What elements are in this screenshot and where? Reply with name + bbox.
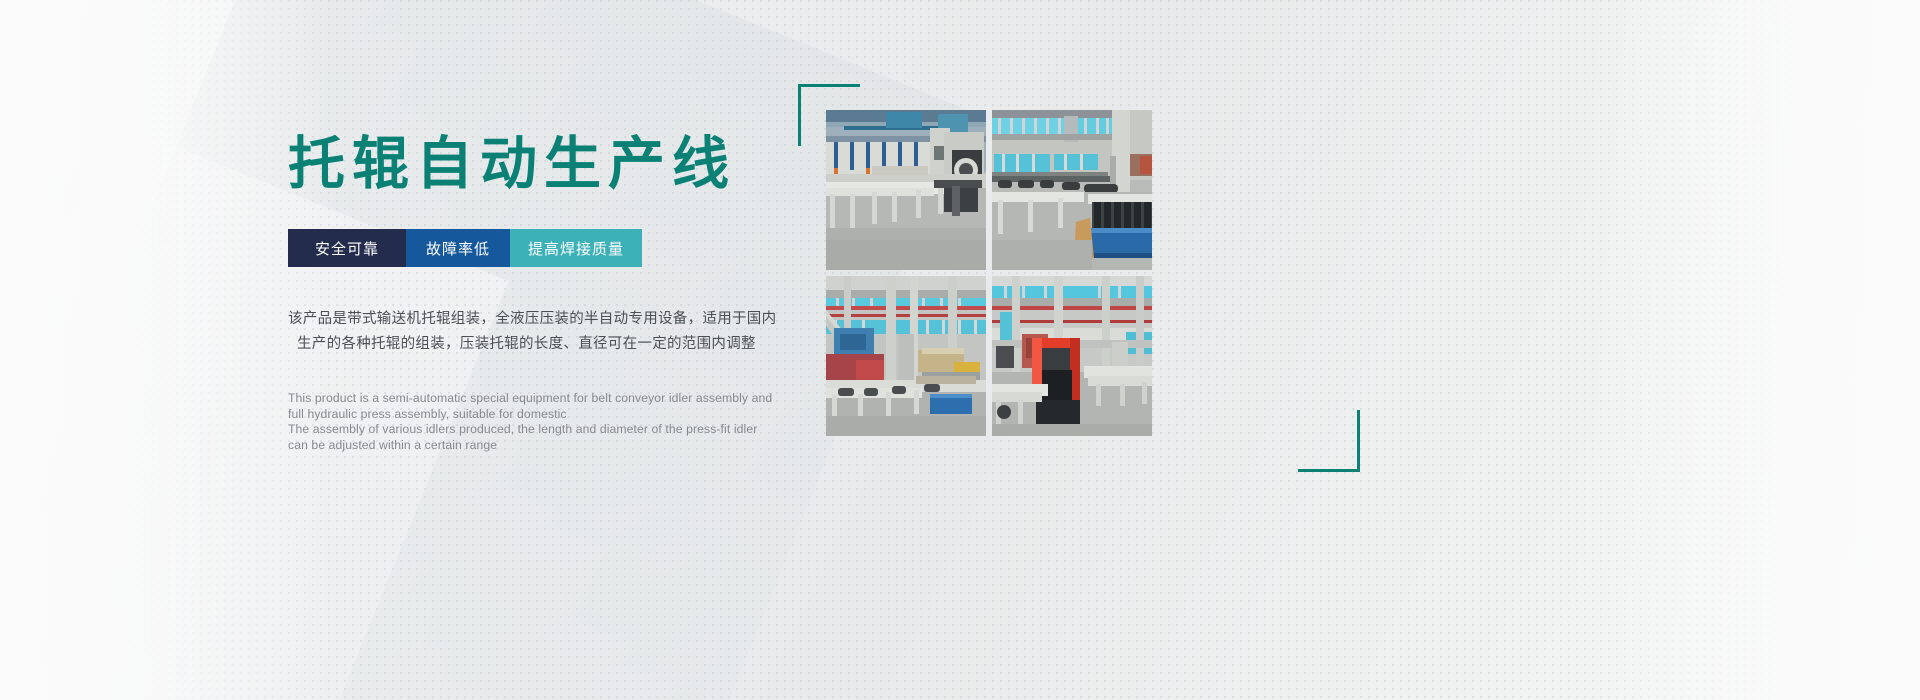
feature-badge-failure[interactable]: 故障率低 [406, 229, 510, 267]
description-english-line-2: full hydraulic press assembly, suitable … [288, 407, 758, 423]
gallery-photo-1[interactable] [826, 110, 986, 270]
description-english-line-1: This product is a semi-automatic special… [288, 391, 758, 407]
background-fade-right [1590, 0, 1920, 700]
description-chinese: 该产品是带式输送机托辊组装，全液压压装的半自动专用设备，适用于国内 生产的各种托… [288, 307, 758, 357]
banner-text-block: 托辊自动生产线 安全可靠 故障率低 提高焊接质量 该产品是带式输送机托辊组装，全… [288, 136, 758, 453]
description-chinese-line-1: 该产品是带式输送机托辊组装，全液压压装的半自动专用设备，适用于国内 [288, 307, 758, 332]
gallery-photo-4[interactable] [992, 276, 1152, 436]
gallery-photo-3[interactable] [826, 276, 986, 436]
gallery-grid [826, 110, 1152, 436]
gallery-photo-2[interactable] [992, 110, 1152, 270]
page-title: 托辊自动生产线 [288, 136, 758, 193]
description-english-line-4: can be adjusted within a certain range [288, 438, 758, 454]
feature-badge-weld[interactable]: 提高焊接质量 [510, 229, 642, 267]
description-chinese-line-2: 生产的各种托辊的组装，压装托辊的长度、直径可在一定的范围内调整 [288, 332, 758, 357]
feature-badge-safe[interactable]: 安全可靠 [288, 229, 406, 267]
description-english-line-3: The assembly of various idlers produced,… [288, 422, 758, 438]
image-gallery [826, 110, 1152, 436]
corner-bracket-bottom-right [1298, 410, 1360, 472]
description-english: This product is a semi-automatic special… [288, 391, 758, 453]
feature-badge-group: 安全可靠 故障率低 提高焊接质量 [288, 229, 758, 267]
background-fade-left [0, 0, 330, 700]
